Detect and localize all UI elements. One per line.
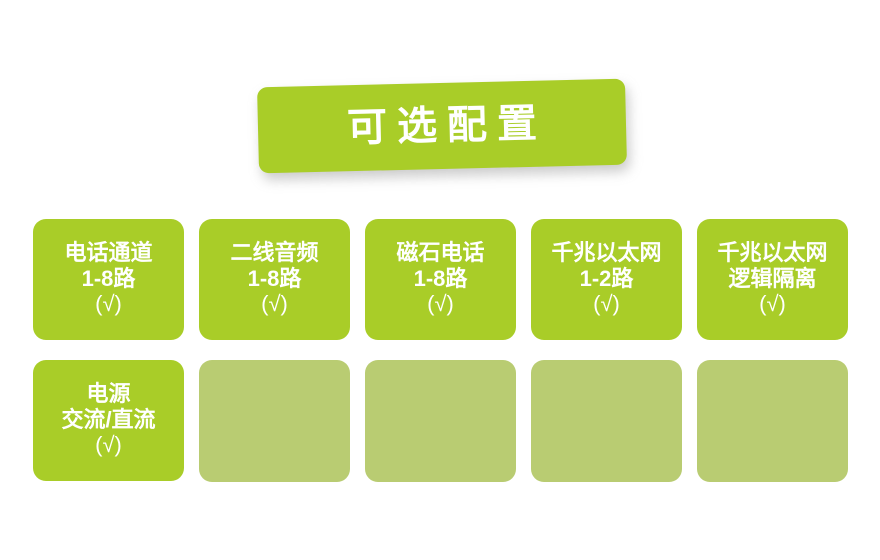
option-tile-placeholder	[697, 360, 848, 482]
tile-line-2: 逻辑隔离	[728, 266, 816, 292]
option-tile-placeholder	[365, 360, 516, 482]
tile-check-mark: (√)	[593, 291, 620, 317]
tile-row: 电源 交流/直流 (√)	[33, 360, 848, 482]
option-tile[interactable]: 千兆以太网 逻辑隔离 (√)	[697, 219, 848, 340]
option-tile[interactable]: 千兆以太网 1-2路 (√)	[531, 219, 682, 340]
tile-line-1: 千兆以太网	[717, 240, 827, 266]
tile-check-mark: (√)	[427, 291, 454, 317]
tile-line-2: 1-8路	[414, 266, 468, 292]
option-tile-placeholder	[199, 360, 350, 482]
tile-check-mark: (√)	[95, 432, 122, 458]
tile-line-2: 1-8路	[248, 266, 302, 292]
option-tile-placeholder	[531, 360, 682, 482]
option-tile[interactable]: 二线音频 1-8路 (√)	[199, 219, 350, 340]
tile-line-1: 磁石电话	[396, 240, 484, 266]
tile-line-2: 1-2路	[580, 266, 634, 292]
tile-check-mark: (√)	[95, 291, 122, 317]
tile-check-mark: (√)	[261, 291, 288, 317]
banner-plate: 可选配置	[257, 79, 627, 174]
tile-line-1: 电话通道	[64, 240, 152, 266]
page-title: 可选配置	[337, 104, 548, 149]
tile-row: 电话通道 1-8路 (√) 二线音频 1-8路 (√) 磁石电话 1-8路 (√…	[33, 219, 848, 340]
tile-line-2: 1-8路	[82, 266, 136, 292]
tile-check-mark: (√)	[759, 291, 786, 317]
option-tile[interactable]: 磁石电话 1-8路 (√)	[365, 219, 516, 340]
tile-line-2: 交流/直流	[61, 407, 155, 433]
tile-line-1: 电源	[86, 381, 130, 407]
option-tile[interactable]: 电源 交流/直流 (√)	[33, 360, 184, 481]
tile-line-1: 千兆以太网	[551, 240, 661, 266]
option-tile[interactable]: 电话通道 1-8路 (√)	[33, 219, 184, 340]
header-banner: 可选配置	[258, 83, 626, 169]
option-tile-grid: 电话通道 1-8路 (√) 二线音频 1-8路 (√) 磁石电话 1-8路 (√…	[33, 219, 848, 482]
tile-line-1: 二线音频	[230, 240, 318, 266]
